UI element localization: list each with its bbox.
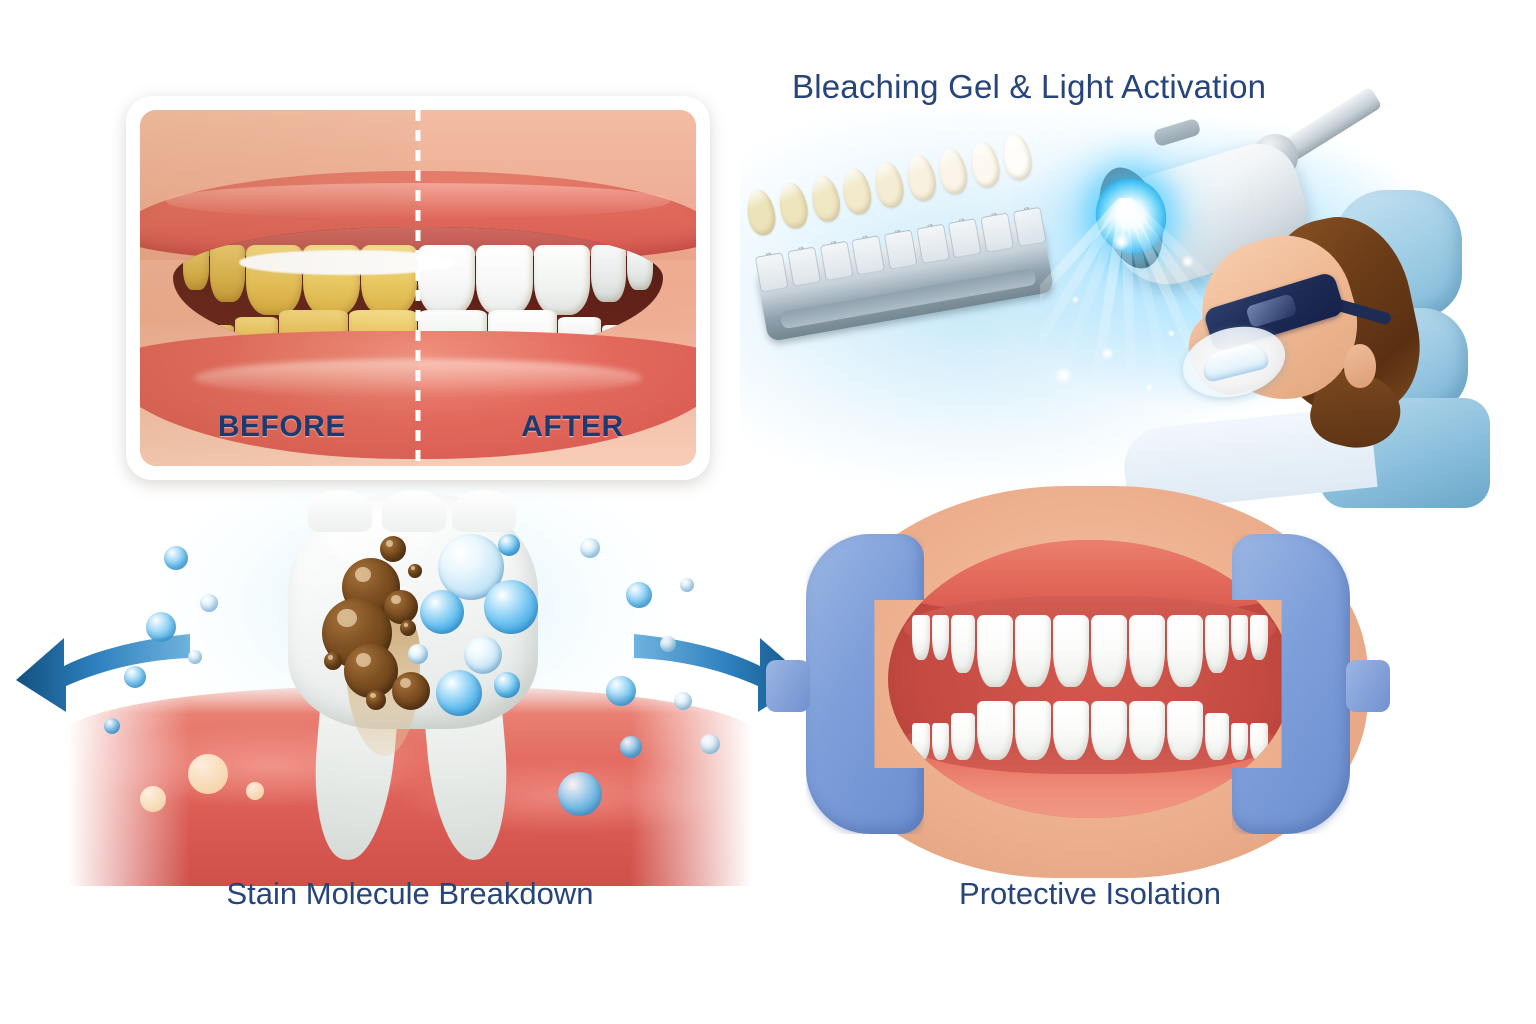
- oxygen-bubble: [408, 644, 428, 664]
- stain-bubble: [246, 782, 264, 800]
- panel-light-activation: Bleaching Gel & Light Activation: [740, 48, 1536, 498]
- oxygen-bubble: [188, 650, 202, 664]
- before-after-divider: [416, 110, 421, 466]
- sparkle-icon: [1181, 255, 1194, 268]
- shade-tab-tooth: [744, 187, 779, 237]
- tooth: [476, 245, 533, 314]
- shade-tab-tooth: [840, 167, 875, 217]
- oxygen-bubble: [700, 734, 720, 754]
- label-after: AFTER: [521, 410, 624, 444]
- label-before: BEFORE: [218, 410, 346, 444]
- shade-tab-slot: [755, 252, 789, 292]
- oxygen-bubble: [420, 590, 464, 634]
- before-after-photo: BEFORE AFTER: [140, 110, 696, 466]
- sparkle-icon: [1054, 366, 1073, 385]
- shade-tab-slot: [852, 235, 886, 275]
- shade-tab-tooth: [872, 160, 907, 210]
- shade-tab-tooth: [968, 139, 1003, 189]
- infographic-canvas: BEFORE AFTER Bleaching Gel & Light Activ…: [0, 0, 1536, 1024]
- sparkle-icon: [1072, 296, 1080, 304]
- sparkle-icon: [1168, 330, 1176, 338]
- shade-tab-slot: [884, 229, 918, 269]
- shade-tab-tooth: [936, 146, 971, 196]
- tooth-crown: [288, 494, 538, 729]
- shade-tab-tooth: [808, 173, 843, 223]
- shade-tab-slot: [980, 212, 1014, 252]
- oxygen-bubble: [680, 578, 694, 592]
- retractor-right-handle: [1346, 660, 1390, 712]
- oxygen-bubble: [674, 692, 692, 710]
- oxygen-bubble: [660, 636, 676, 652]
- tooth: [210, 245, 245, 302]
- shade-tab-slot: [916, 224, 950, 264]
- gel-coated-teeth: [1200, 340, 1271, 383]
- tooth: [591, 245, 626, 302]
- stain-molecule: [392, 672, 430, 710]
- oxygen-bubble: [580, 538, 600, 558]
- tooth: [627, 245, 652, 289]
- sparkle-icon: [1101, 347, 1114, 360]
- stain-molecule: [384, 590, 418, 624]
- stain-bubble: [140, 786, 166, 812]
- molar-cross-section: [288, 494, 538, 864]
- title-stain-breakdown: Stain Molecule Breakdown: [60, 876, 760, 912]
- oxygen-bubble: [606, 676, 636, 706]
- oxygen-bubble: [498, 534, 520, 556]
- patient-head: [1194, 224, 1384, 424]
- shade-tab-tooth: [904, 153, 939, 203]
- oxygen-bubble: [626, 582, 652, 608]
- stain-molecule: [380, 536, 406, 562]
- panel-stain-breakdown: Stain Molecule Breakdown: [60, 486, 760, 956]
- oxygen-bubble: [494, 672, 520, 698]
- shade-tab-tooth: [776, 180, 811, 230]
- sparkle-icon: [1112, 232, 1131, 251]
- tooth-cusp: [382, 490, 446, 532]
- tooth-cusp: [308, 490, 372, 532]
- retractor-left-handle: [766, 660, 810, 712]
- tooth: [534, 245, 591, 314]
- device-button[interactable]: [1153, 118, 1202, 148]
- tooth-cusp: [452, 490, 516, 532]
- stain-molecule: [408, 564, 422, 578]
- oxygen-bubble: [620, 736, 642, 758]
- stain-molecule: [324, 652, 342, 670]
- title-bleaching-gel: Bleaching Gel & Light Activation: [792, 68, 1266, 106]
- tooth: [183, 245, 208, 289]
- shade-tab-slot: [948, 218, 982, 258]
- oxygen-bubble: [200, 594, 218, 612]
- oxygen-bubble: [484, 580, 538, 634]
- stain-molecule: [400, 620, 416, 636]
- retractor-right-arm: [1232, 534, 1350, 834]
- oxygen-bubble: [124, 666, 146, 688]
- cheek-retractor-icon: [800, 534, 1356, 834]
- shade-tab-tooth: [1000, 132, 1035, 182]
- oxygen-bubble: [146, 612, 176, 642]
- shade-tab-slot: [787, 246, 821, 286]
- sparkle-icon: [1146, 384, 1154, 392]
- title-protective-isolation: Protective Isolation: [800, 876, 1380, 912]
- oxygen-bubble: [436, 670, 482, 716]
- stain-bubble: [188, 754, 228, 794]
- oxygen-bubble: [558, 772, 602, 816]
- panel-protective-isolation: Protective Isolation: [800, 486, 1380, 956]
- oxygen-bubble: [104, 718, 120, 734]
- retractor-left-arm: [806, 534, 924, 834]
- oxygen-bubble: [464, 636, 502, 674]
- stain-molecule: [366, 690, 386, 710]
- patient-ear: [1344, 344, 1376, 388]
- oxygen-bubble: [164, 546, 188, 570]
- shade-tab-slot: [819, 241, 853, 281]
- panel-before-after: BEFORE AFTER: [126, 96, 710, 480]
